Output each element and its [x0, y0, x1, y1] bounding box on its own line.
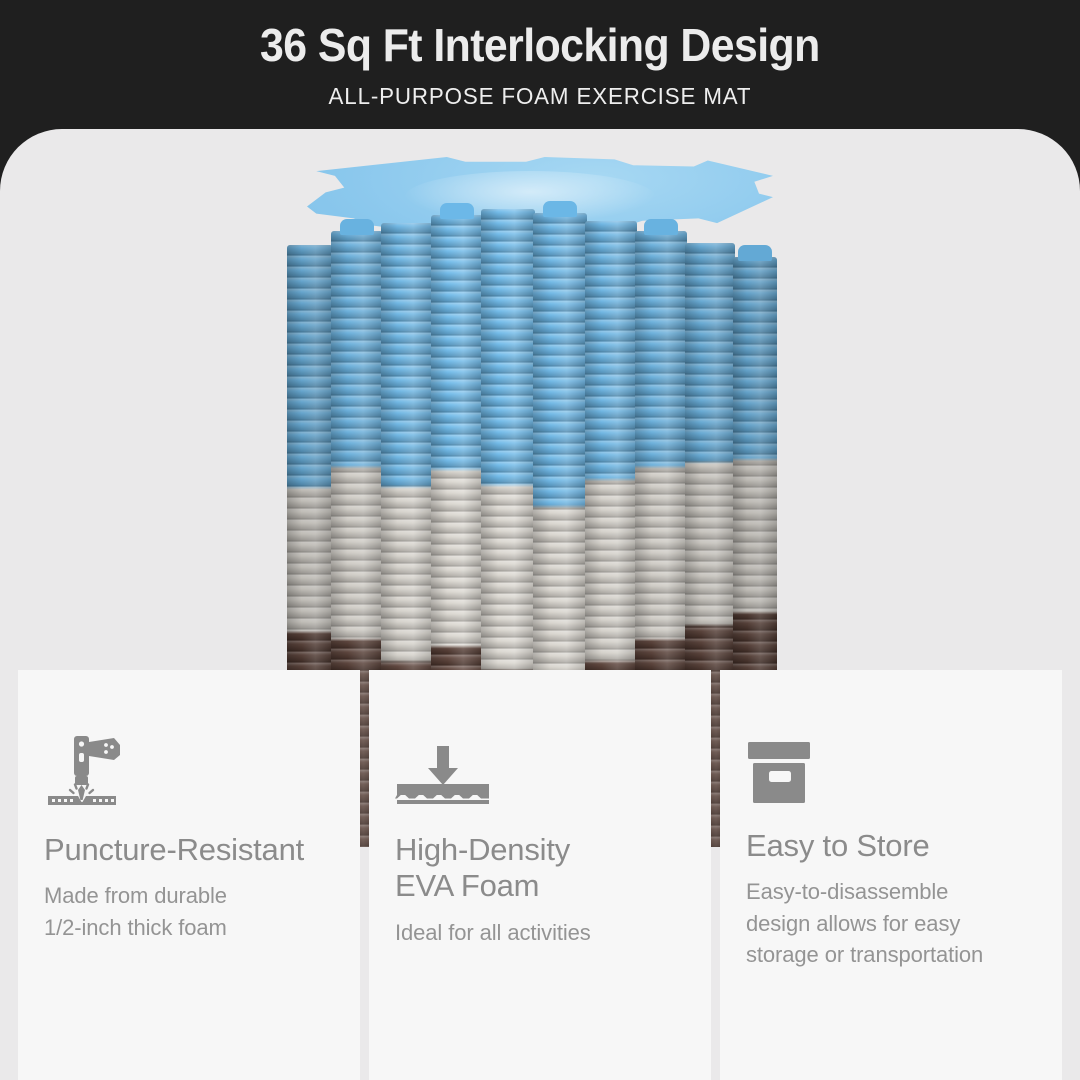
puzzle-tab-nub [340, 219, 374, 235]
page-title: 36 Sq Ft Interlocking Design [260, 22, 820, 70]
header-banner: 36 Sq Ft Interlocking Design ALL-PURPOSE… [0, 0, 1080, 136]
puzzle-tab-nub [440, 203, 474, 219]
feature-card-puncture-resistant: Puncture-Resistant Made from durable 1/2… [18, 670, 360, 1080]
drill-puncture-icon [44, 714, 334, 806]
puzzle-tab-nub [543, 201, 577, 217]
feature-cards: Puncture-Resistant Made from durable 1/2… [0, 670, 1080, 1080]
main-panel: Puncture-Resistant Made from durable 1/2… [0, 129, 1080, 1080]
feature-card-high-density-eva-foam: High-Density EVA Foam Ideal for all acti… [369, 670, 711, 1080]
feature-card-title: Easy to Store [746, 828, 1036, 864]
storage-box-icon [746, 714, 1036, 806]
feature-card-title: High-Density EVA Foam [395, 832, 685, 905]
feature-card-description: Ideal for all activities [395, 917, 685, 948]
feature-card-easy-to-store: Easy to Store Easy-to-disassemble design… [720, 670, 1062, 1080]
arrow-compression-icon [395, 714, 685, 806]
feature-card-title: Puncture-Resistant [44, 832, 334, 868]
puzzle-tab-nub [644, 219, 678, 235]
page-subtitle: ALL-PURPOSE FOAM EXERCISE MAT [329, 83, 752, 110]
feature-card-description: Made from durable 1/2-inch thick foam [44, 880, 334, 942]
feature-card-description: Easy-to-disassemble design allows for ea… [746, 876, 1036, 970]
puzzle-tab-nub [738, 245, 772, 261]
